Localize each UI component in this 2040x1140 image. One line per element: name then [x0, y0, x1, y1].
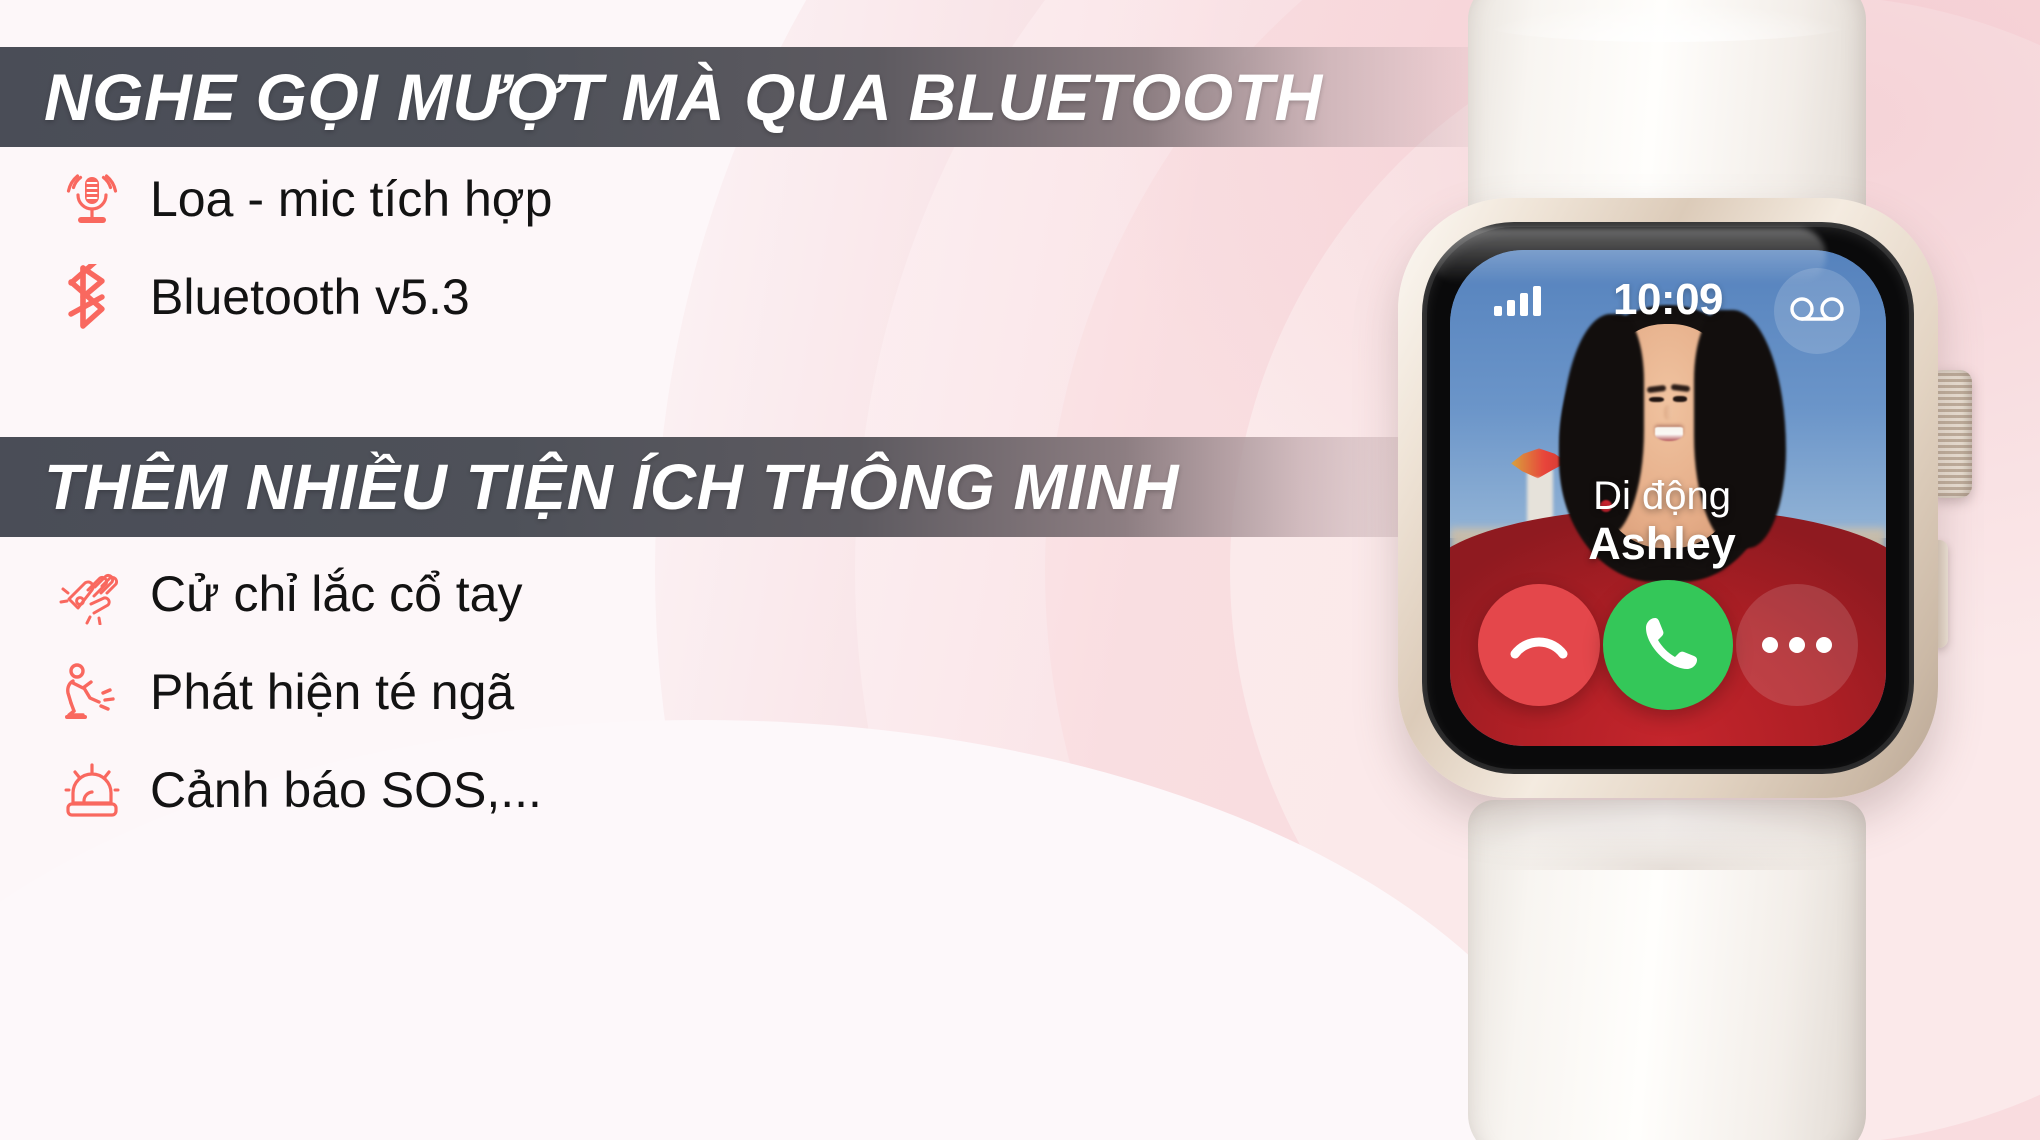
caller-name: Ashley	[1450, 518, 1874, 570]
watch-screen-incoming-call: 10:09 Di động Ashley	[1450, 250, 1886, 746]
hand-gesture-icon	[52, 560, 132, 628]
caller-info: Di động Ashley	[1450, 475, 1886, 570]
decline-call-button[interactable]	[1478, 584, 1600, 706]
feature-item-label: Loa - mic tích hợp	[150, 170, 552, 228]
ellipsis-icon	[1762, 637, 1832, 653]
feature-item-label: Phát hiện té ngã	[150, 663, 514, 721]
section-banner-bluetooth: NGHE GỌI MƯỢT MÀ QUA BLUETOOTH	[0, 47, 1510, 147]
feature-item-label: Bluetooth v5.3	[150, 268, 470, 326]
microphone-icon	[52, 165, 132, 233]
section-banner-bluetooth-title: NGHE GỌI MƯỢT MÀ QUA BLUETOOTH	[0, 59, 1323, 135]
accept-call-button[interactable]	[1603, 580, 1733, 710]
smartwatch-product-image: 10:09 Di động Ashley	[1352, 0, 1992, 1140]
section-banner-smart-features-title: THÊM NHIỀU TIỆN ÍCH THÔNG MINH	[0, 450, 1179, 524]
siren-alert-icon	[52, 756, 132, 824]
watch-bezel: 10:09 Di động Ashley	[1422, 222, 1914, 774]
call-action-bar	[1450, 570, 1886, 720]
feature-item-label: Cử chỉ lắc cổ tay	[150, 565, 523, 623]
watch-case: 10:09 Di động Ashley	[1398, 198, 1938, 798]
feature-item-label: Cảnh báo SOS,...	[150, 761, 542, 819]
more-options-button[interactable]	[1736, 584, 1858, 706]
promo-banner-canvas: NGHE GỌI MƯỢT MÀ QUA BLUETOOTH	[0, 0, 2040, 1140]
feature-list-smart-features: Cử chỉ lắc cổ tay Phát hiện té ngã	[52, 545, 542, 839]
feature-item-bluetooth-version: Bluetooth v5.3	[52, 248, 552, 346]
feature-item-fall-detection: Phát hiện té ngã	[52, 643, 542, 741]
feature-item-sos-alert: Cảnh báo SOS,...	[52, 741, 542, 839]
watch-status-bar: 10:09	[1450, 272, 1886, 328]
caller-line-kind: Di động	[1450, 475, 1874, 517]
feature-list-bluetooth: Loa - mic tích hợp Bluetooth v5.3	[52, 150, 552, 346]
fall-detection-icon	[52, 658, 132, 726]
feature-item-wrist-gesture: Cử chỉ lắc cổ tay	[52, 545, 542, 643]
watch-band-bottom	[1468, 800, 1866, 1140]
bluetooth-icon	[52, 263, 132, 331]
feature-item-speaker-mic: Loa - mic tích hợp	[52, 150, 552, 248]
section-banner-smart-features: THÊM NHIỀU TIỆN ÍCH THÔNG MINH	[0, 437, 1480, 537]
voicemail-icon[interactable]	[1774, 268, 1860, 354]
